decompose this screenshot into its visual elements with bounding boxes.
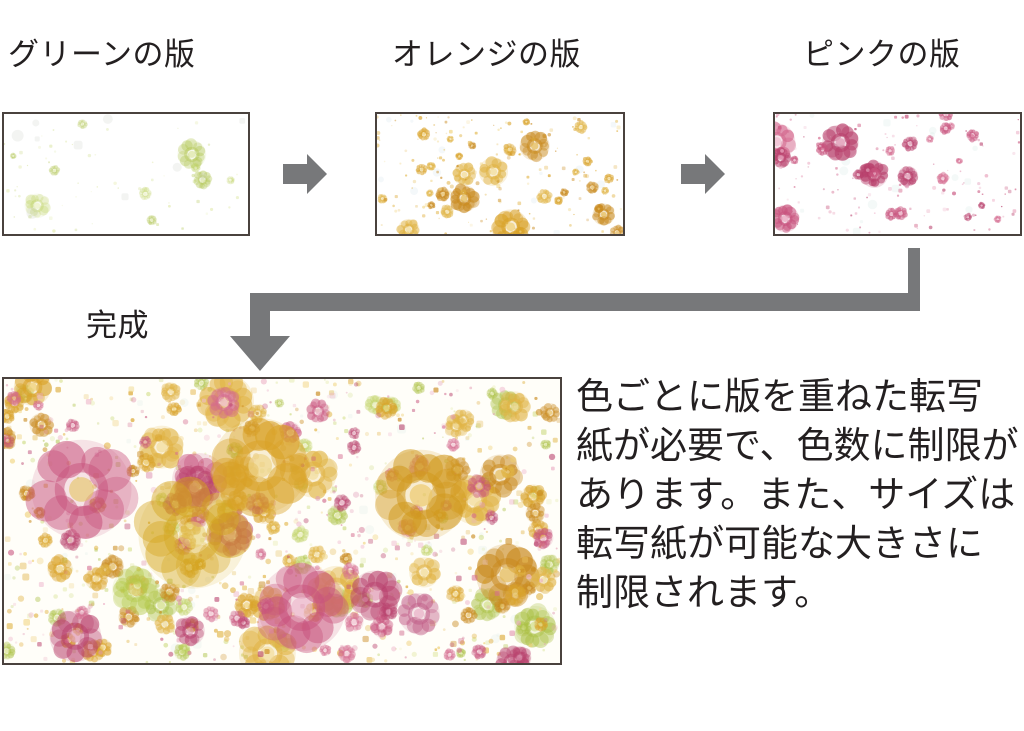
arrow-green-to-orange-icon xyxy=(283,153,327,195)
pink-plate-image xyxy=(773,112,1022,236)
description-line-1: 色ごとに版を重ねた転写 xyxy=(576,372,1024,421)
pink-plate-label: ピンクの版 xyxy=(803,39,961,70)
description-line-3: あります。また、サイズは xyxy=(576,470,1024,519)
arrow-pink-to-final-icon xyxy=(220,248,920,373)
description-line-4: 転写紙が可能な大きさに xyxy=(576,519,1024,568)
arrow-orange-to-pink-icon xyxy=(681,153,725,195)
orange-plate-image xyxy=(375,112,625,236)
description-line-2: 紙が必要で、色数に制限が xyxy=(576,421,1024,470)
pink-plate-artwork xyxy=(775,114,1020,234)
orange-plate-label: オレンジの版 xyxy=(392,39,581,70)
final-label: 完成 xyxy=(86,310,149,341)
final-composite-artwork xyxy=(4,379,560,663)
final-composite-image xyxy=(2,377,562,665)
green-plate-label: グリーンの版 xyxy=(8,39,195,70)
description-text: 色ごとに版を重ねた転写 紙が必要で、色数に制限が あります。また、サイズは 転写… xyxy=(576,372,1024,617)
orange-plate-artwork xyxy=(377,114,623,234)
green-plate-image xyxy=(2,112,250,236)
green-plate-artwork xyxy=(4,114,248,234)
description-line-5: 制限されます。 xyxy=(576,568,1024,617)
